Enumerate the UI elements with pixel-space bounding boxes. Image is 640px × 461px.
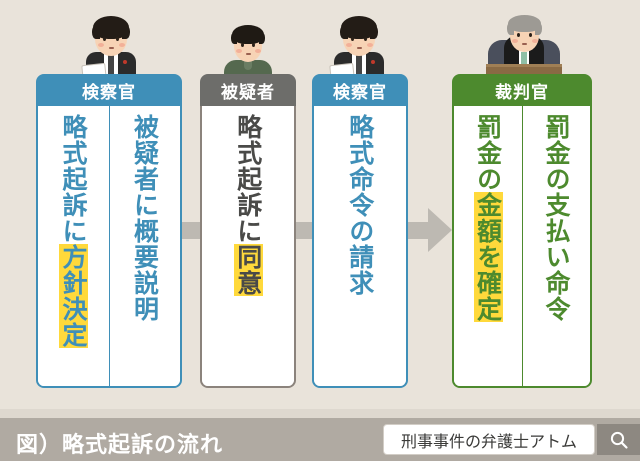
person-suspect bbox=[224, 14, 272, 80]
step-role-label-3: 検察官 bbox=[312, 74, 408, 106]
step-text-1-2: 被疑者に概要説明 bbox=[132, 114, 158, 322]
step-role-label-2: 被疑者 bbox=[200, 74, 296, 106]
step-card-4[interactable]: 裁判官 罰金の金額を確定 罰金の支払い命令 bbox=[452, 74, 592, 388]
step-text-4-1: 罰金の金額を確定 bbox=[475, 114, 501, 322]
figure-caption: 図）略式起訴の流れ bbox=[16, 427, 223, 459]
person-prosecutor-2 bbox=[330, 8, 388, 80]
divider-strip bbox=[0, 409, 640, 418]
step-text-highlight: 方針決定 bbox=[59, 244, 88, 348]
step-column-4-1: 罰金の金額を確定 bbox=[454, 106, 522, 386]
search-input-value: 刑事事件の弁護士アトム bbox=[401, 428, 577, 452]
step-text-plain: 罰金の bbox=[474, 114, 503, 192]
step-text-plain: 略式起訴に bbox=[234, 114, 263, 244]
step-text-plain: 罰金の bbox=[542, 114, 571, 192]
step-card-1[interactable]: 検察官 略式起訴に方針決定 被疑者に概要説明 bbox=[36, 74, 182, 388]
bottom-bar: 図）略式起訴の流れ 刑事事件の弁護士アトム bbox=[0, 418, 640, 461]
step-text-2-1: 略式起訴に同意 bbox=[235, 114, 261, 296]
step-text-highlight: 同意 bbox=[234, 244, 263, 296]
flow-diagram: 検察官 略式起訴に方針決定 被疑者に概要説明 bbox=[0, 0, 640, 418]
step-column-1-2: 被疑者に概要説明 bbox=[109, 106, 181, 386]
step-text-3-1: 略式命令の請求 bbox=[347, 114, 373, 296]
step-card-2[interactable]: 被疑者 略式起訴に同意 bbox=[200, 74, 296, 388]
step-role-label-1: 検察官 bbox=[36, 74, 182, 106]
step-column-2-1: 略式起訴に同意 bbox=[202, 106, 294, 386]
search-icon bbox=[609, 430, 629, 450]
step-text-plain-tail: 概要説明 bbox=[131, 218, 160, 322]
step-column-4-2: 罰金の支払い命令 bbox=[522, 106, 591, 386]
step-text-4-2: 罰金の支払い命令 bbox=[544, 114, 570, 322]
step-text-1-1: 略式起訴に方針決定 bbox=[61, 114, 87, 348]
step-column-1-1: 略式起訴に方針決定 bbox=[38, 106, 109, 386]
search-button[interactable] bbox=[597, 424, 640, 455]
step-card-3[interactable]: 検察官 略式命令の請求 bbox=[312, 74, 408, 388]
step-text-plain: 略式命令の請求 bbox=[346, 114, 375, 296]
person-prosecutor-1 bbox=[82, 8, 140, 80]
step-role-label-4: 裁判官 bbox=[452, 74, 592, 106]
step-column-3-1: 略式命令の請求 bbox=[314, 106, 406, 386]
step-text-plain: 略式起訴に bbox=[59, 114, 88, 244]
step-text-highlight: 金額を確定 bbox=[474, 192, 503, 322]
flow-arrow bbox=[404, 208, 452, 253]
step-text-plain-tail: 支払い命令 bbox=[542, 192, 571, 322]
step-text-plain: 被疑者に bbox=[131, 114, 160, 218]
diagram-stage: 検察官 略式起訴に方針決定 被疑者に概要説明 bbox=[0, 0, 640, 461]
search-input[interactable]: 刑事事件の弁護士アトム bbox=[383, 424, 595, 455]
person-judge bbox=[486, 6, 562, 80]
